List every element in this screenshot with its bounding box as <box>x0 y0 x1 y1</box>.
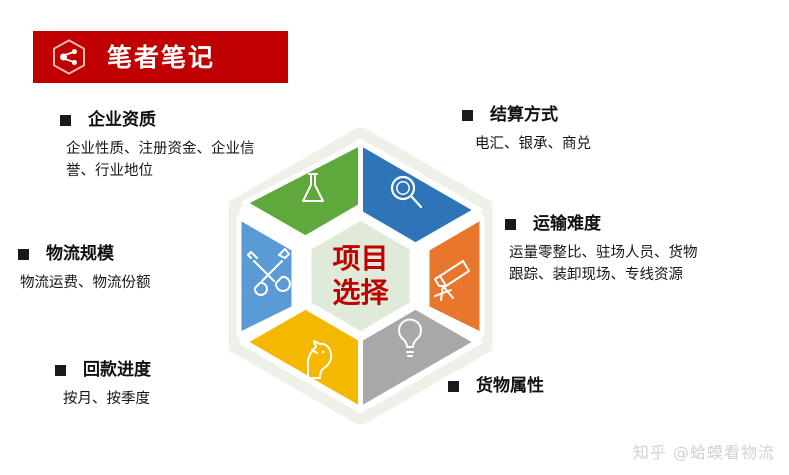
bullet-square-icon <box>18 249 29 260</box>
label-title-settlement: 结算方式 <box>490 107 558 124</box>
bullet-square-icon <box>462 110 473 121</box>
bullet-square-icon <box>60 115 71 126</box>
label-title-scale: 物流规模 <box>46 246 114 263</box>
center-title-line2: 选择 <box>332 276 389 309</box>
label-title-payment: 回款进度 <box>83 362 151 379</box>
bullet-square-icon <box>55 365 66 376</box>
label-block-transport: 运输难度 运量零整比、驻场人员、货物 跟踪、装卸现场、专线资源 <box>505 216 698 287</box>
center-title-line1: 项目 <box>332 242 388 275</box>
hexagon-share-icon <box>49 37 89 77</box>
label-head: 回款进度 <box>55 362 151 379</box>
label-head: 企业资质 <box>60 112 255 129</box>
label-desc-payment: 按月、按季度 <box>63 388 151 410</box>
label-title-qualification: 企业资质 <box>88 112 156 129</box>
label-head: 物流规模 <box>18 246 151 263</box>
slide-canvas: 笔者笔记 企业资质 企业性质、注册资金、企业信 誉、行业地位 物流规模 物流运费… <box>0 0 789 475</box>
label-desc-transport: 运量零整比、驻场人员、货物 跟踪、装卸现场、专线资源 <box>509 242 698 287</box>
label-desc-scale: 物流运费、物流份额 <box>20 272 151 294</box>
label-head: 运输难度 <box>505 216 698 233</box>
label-block-scale: 物流规模 物流运费、物流份额 <box>18 246 151 294</box>
label-block-payment: 回款进度 按月、按季度 <box>55 362 151 410</box>
title-banner: 笔者笔记 <box>33 31 288 83</box>
label-title-transport: 运输难度 <box>533 216 601 233</box>
banner-title: 笔者笔记 <box>107 45 215 70</box>
watermark: 知乎 @蛤蟆看物流 <box>633 439 775 463</box>
label-head: 结算方式 <box>462 107 591 124</box>
hexagon-wheel-diagram: 项目 选择 <box>213 128 508 424</box>
